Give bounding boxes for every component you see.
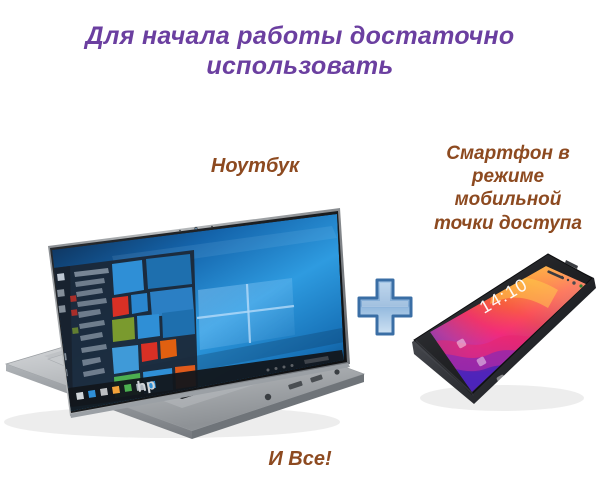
smartphone-label: Смартфон в режиме мобильной точки доступ… — [420, 142, 596, 235]
laptop-label: Ноутбук — [175, 155, 335, 179]
front-camera-icon — [572, 281, 575, 284]
led-indicator-icon — [579, 284, 582, 287]
smartphone-image: 14:10 — [398, 236, 600, 431]
slide-canvas: Для начала работы достаточно использоват… — [0, 0, 600, 500]
proximity-sensor-icon — [567, 279, 569, 281]
laptop-image: hp — [0, 178, 372, 448]
smartphone-shadow — [420, 385, 584, 411]
footer-label: И Все! — [225, 448, 375, 472]
page-title: Для начала работы достаточно использоват… — [55, 22, 545, 81]
hp-logo: hp — [136, 376, 157, 396]
